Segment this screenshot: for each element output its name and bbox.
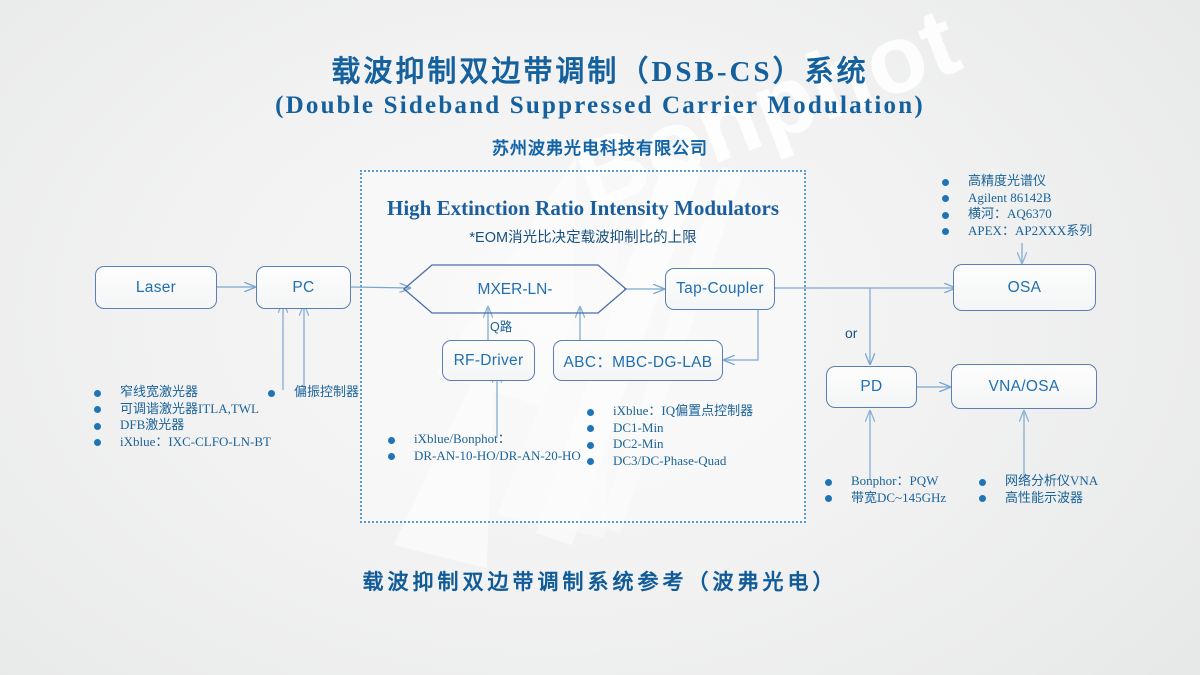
edge-label-or: or [845, 325, 857, 341]
node-pd[interactable]: PD [826, 366, 917, 408]
bullet-dot [94, 406, 101, 413]
page-title-cn: 载波抑制双边带调制（DSB-CS）系统 [0, 48, 1200, 90]
bullet-dot [388, 453, 395, 460]
annotation-text: 偏振控制器 [294, 384, 359, 399]
list-item: 横河：AQ6370 [968, 206, 1092, 223]
node-rf-driver-label: RF-Driver [454, 352, 524, 370]
node-laser[interactable]: Laser [95, 266, 217, 309]
annotation-text: 带宽DC~145GHz [851, 490, 946, 505]
annotation-text: Bonphor：PQW [851, 473, 938, 488]
footer-caption: 载波抑制双边带调制系统参考（波弗光电） [0, 566, 1200, 596]
annotation-text: DC2-Min [613, 436, 664, 451]
node-osa[interactable]: OSA [953, 264, 1096, 311]
annotation-text: 横河：AQ6370 [968, 206, 1052, 221]
list-item: 带宽DC~145GHz [851, 490, 946, 507]
bullet-dot [942, 195, 949, 202]
list-item: DFB激光器 [120, 417, 271, 434]
annotation-text: DC3/DC-Phase-Quad [613, 453, 726, 468]
list-item: 偏振控制器 [294, 384, 359, 401]
bullet-dot [825, 495, 832, 502]
bullet-dot [825, 479, 832, 486]
node-vna-osa[interactable]: VNA/OSA [951, 364, 1097, 409]
annotation-text: DC1-Min [613, 420, 664, 435]
node-mxer[interactable]: MXER-LN- [404, 263, 626, 316]
list-item: 可调谐激光器ITLA,TWL [120, 401, 271, 418]
modulator-group-subtitle: *EOM消光比决定载波抑制比的上限 [360, 226, 806, 247]
node-tap-coupler[interactable]: Tap-Coupler [665, 268, 775, 310]
bullet-dot [587, 409, 594, 416]
annotation-text: iXblue：IXC-CLFO-LN-BT [120, 434, 271, 449]
modulator-group-title: High Extinction Ratio Intensity Modulato… [360, 196, 806, 221]
bullet-dot [587, 425, 594, 432]
node-osa-label: OSA [1008, 279, 1042, 297]
annotation-text: 网络分析仪VNA [1005, 473, 1098, 488]
list-item: DR-AN-10-HO/DR-AN-20-HO [414, 448, 581, 465]
node-vna-osa-label: VNA/OSA [988, 378, 1059, 396]
bullet-dot [587, 442, 594, 449]
list-item: iXblue：IXC-CLFO-LN-BT [120, 434, 271, 451]
annotation-text: 高性能示波器 [1005, 490, 1083, 505]
node-pd-label: PD [860, 378, 882, 396]
bullet-dot [979, 479, 986, 486]
node-rf-driver[interactable]: RF-Driver [442, 340, 535, 381]
list-item: Agilent 86142B [968, 190, 1092, 207]
bullet-dot [388, 437, 395, 444]
list-item: 窄线宽激光器 [120, 384, 271, 401]
annotation-laser: 窄线宽激光器 可调谐激光器ITLA,TWL DFB激光器 iXblue：IXC-… [120, 384, 271, 450]
bullet-dot [94, 390, 101, 397]
list-item: 高性能示波器 [1005, 490, 1098, 507]
edge-label-q-path: Q路 [490, 316, 512, 335]
slide-canvas: Bonphot 载波抑制双边带调制（DSB-CS）系统 (Double Side… [0, 0, 1200, 675]
list-item: 网络分析仪VNA [1005, 473, 1098, 490]
annotation-text: 窄线宽激光器 [120, 384, 198, 399]
list-item: APEX：AP2XXX系列 [968, 223, 1092, 240]
annotation-text: iXblue/Bonphot： [414, 431, 511, 446]
annotation-text: Agilent 86142B [968, 190, 1051, 205]
annotation-osa: 高精度光谱仪 Agilent 86142B 横河：AQ6370 APEX：AP2… [968, 173, 1092, 239]
bullet-dot [942, 212, 949, 219]
annotation-pc: 偏振控制器 [294, 384, 359, 401]
page-title-en: (Double Sideband Suppressed Carrier Modu… [0, 92, 1200, 120]
annotation-vna: 网络分析仪VNA 高性能示波器 [1005, 473, 1098, 506]
list-item: iXblue：IQ偏置点控制器 [613, 403, 753, 420]
node-mxer-label: MXER-LN- [478, 281, 553, 299]
annotation-text: DFB激光器 [120, 417, 184, 432]
list-item: DC3/DC-Phase-Quad [613, 453, 753, 470]
bullet-dot [942, 179, 949, 186]
bullet-dot [587, 458, 594, 465]
bullet-dot [268, 390, 275, 397]
annotation-text: DR-AN-10-HO/DR-AN-20-HO [414, 448, 581, 463]
node-pc-label: PC [292, 279, 314, 297]
annotation-pd: Bonphor：PQW 带宽DC~145GHz [851, 473, 946, 506]
company-name: 苏州波弗光电科技有限公司 [0, 134, 1200, 159]
node-pc[interactable]: PC [256, 266, 351, 309]
annotation-rf-driver: iXblue/Bonphot： DR-AN-10-HO/DR-AN-20-HO [414, 431, 581, 464]
annotation-text: APEX：AP2XXX系列 [968, 223, 1092, 238]
list-item: iXblue/Bonphot： [414, 431, 581, 448]
annotation-abc: iXblue：IQ偏置点控制器 DC1-Min DC2-Min DC3/DC-P… [613, 403, 753, 469]
bullet-dot [94, 423, 101, 430]
node-tap-coupler-label: Tap-Coupler [676, 280, 764, 298]
bullet-dot [942, 228, 949, 235]
bullet-dot [979, 495, 986, 502]
list-item: Bonphor：PQW [851, 473, 946, 490]
list-item: DC1-Min [613, 420, 753, 437]
list-item: DC2-Min [613, 436, 753, 453]
annotation-text: iXblue：IQ偏置点控制器 [613, 403, 753, 418]
list-item: 高精度光谱仪 [968, 173, 1092, 190]
bullet-dot [94, 439, 101, 446]
annotation-text: 高精度光谱仪 [968, 173, 1046, 188]
node-laser-label: Laser [136, 279, 176, 297]
node-abc-label: ABC：MBC-DG-LAB [564, 350, 713, 372]
annotation-text: 可调谐激光器ITLA,TWL [120, 401, 259, 416]
node-abc[interactable]: ABC：MBC-DG-LAB [553, 340, 723, 381]
